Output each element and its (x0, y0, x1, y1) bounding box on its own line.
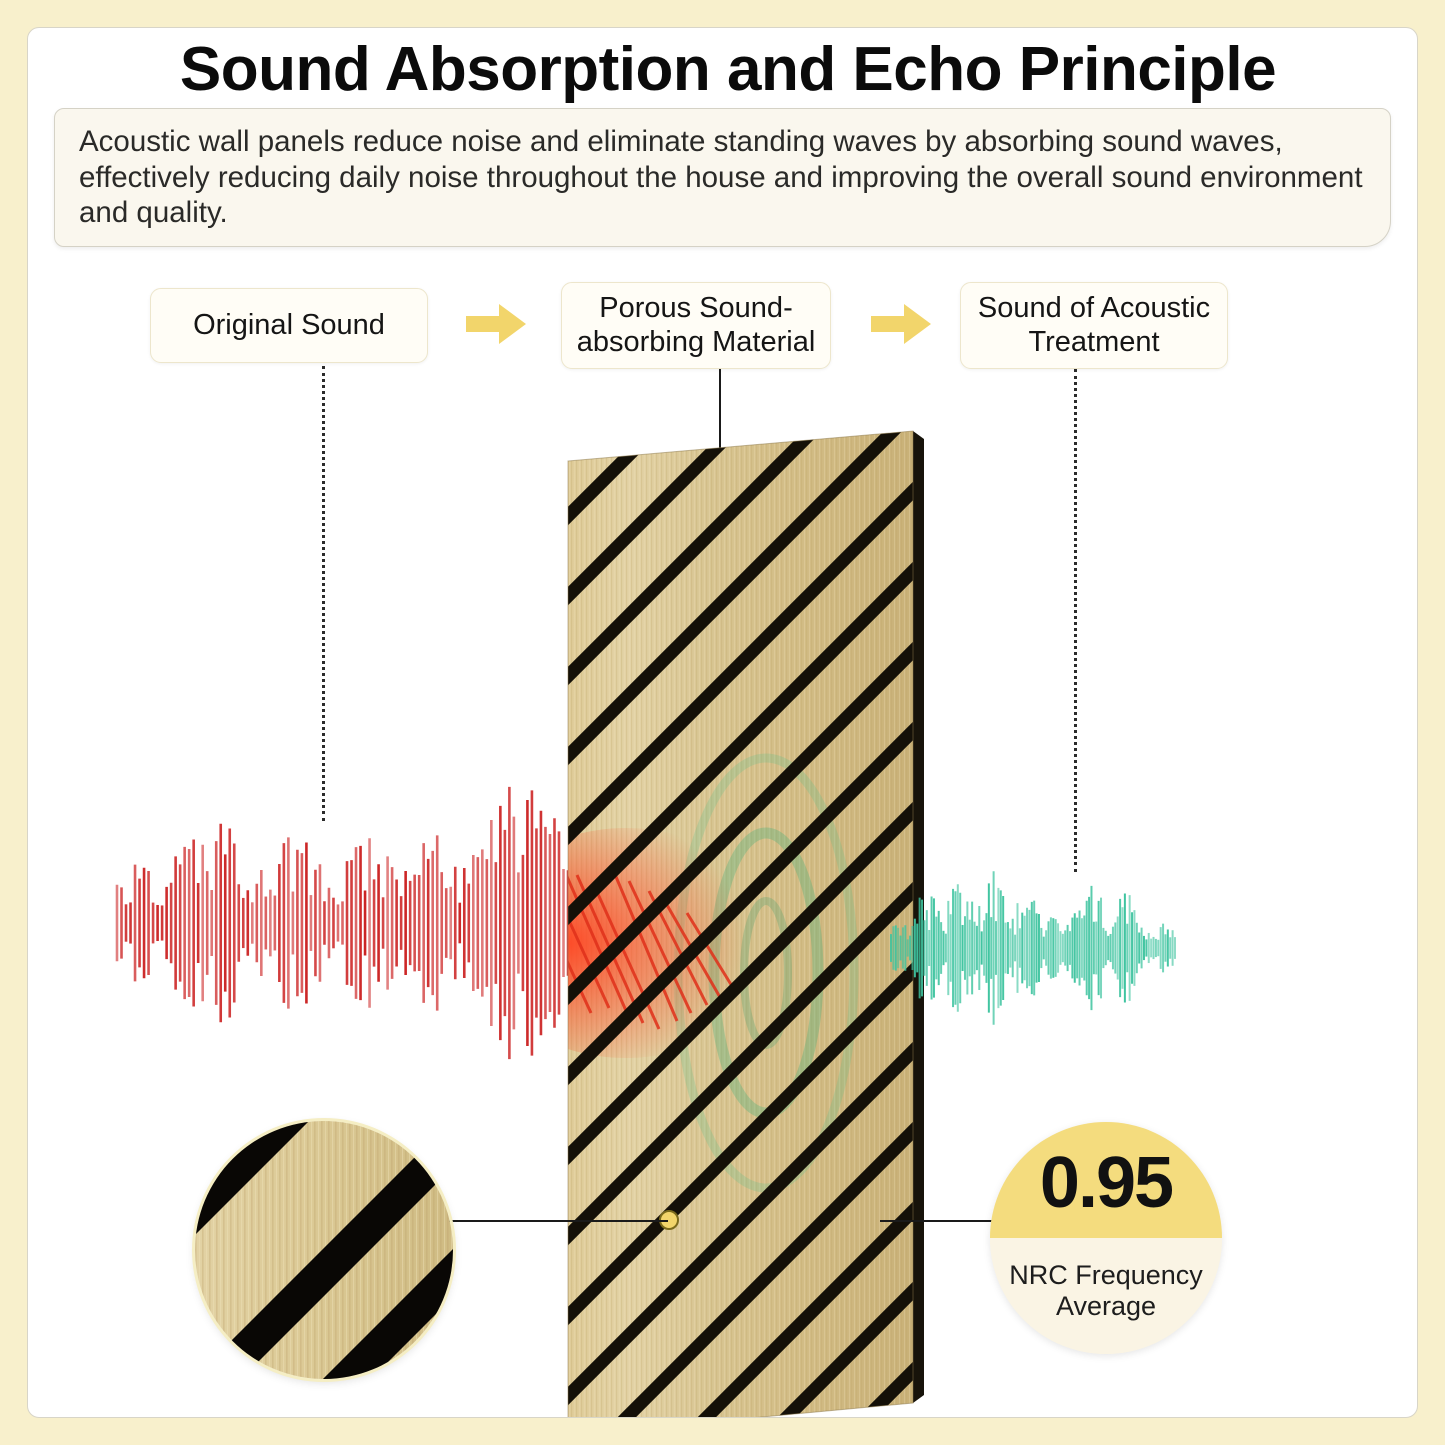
flow-step-1-label: Original Sound (193, 309, 385, 343)
panel-texture-magnifier (195, 1121, 453, 1379)
flow-step-porous-material[interactable]: Porous Sound-absorbing Material (561, 282, 831, 369)
description-text: Acoustic wall panels reduce noise and el… (79, 124, 1366, 231)
infographic-canvas: Sound Absorption and Echo Principle Acou… (0, 0, 1445, 1445)
nrc-badge-bottom: NRC Frequency Average (990, 1238, 1222, 1354)
right-arrow-icon (871, 301, 931, 347)
nrc-label: NRC Frequency Average (990, 1260, 1222, 1322)
connector-dotted-treated-sound (1074, 369, 1077, 872)
flow-step-2-label: Porous Sound-absorbing Material (572, 292, 820, 359)
connector-line-magnifier (423, 1220, 668, 1222)
nrc-value: 0.95 (1040, 1142, 1172, 1224)
flow-step-treated-sound[interactable]: Sound of Acoustic Treatment (960, 282, 1228, 369)
flow-step-3-label: Sound of Acoustic Treatment (971, 292, 1217, 359)
nrc-badge-top: 0.95 (990, 1122, 1222, 1238)
nrc-badge: 0.95 NRC Frequency Average (990, 1122, 1222, 1354)
content-card: Sound Absorption and Echo Principle Acou… (27, 27, 1418, 1418)
right-arrow-icon (466, 301, 526, 347)
treated-sound-waveform (888, 858, 1178, 1038)
description-box: Acoustic wall panels reduce noise and el… (54, 108, 1391, 247)
page-title: Sound Absorption and Echo Principle (73, 34, 1383, 105)
flow-step-original-sound[interactable]: Original Sound (150, 288, 428, 363)
